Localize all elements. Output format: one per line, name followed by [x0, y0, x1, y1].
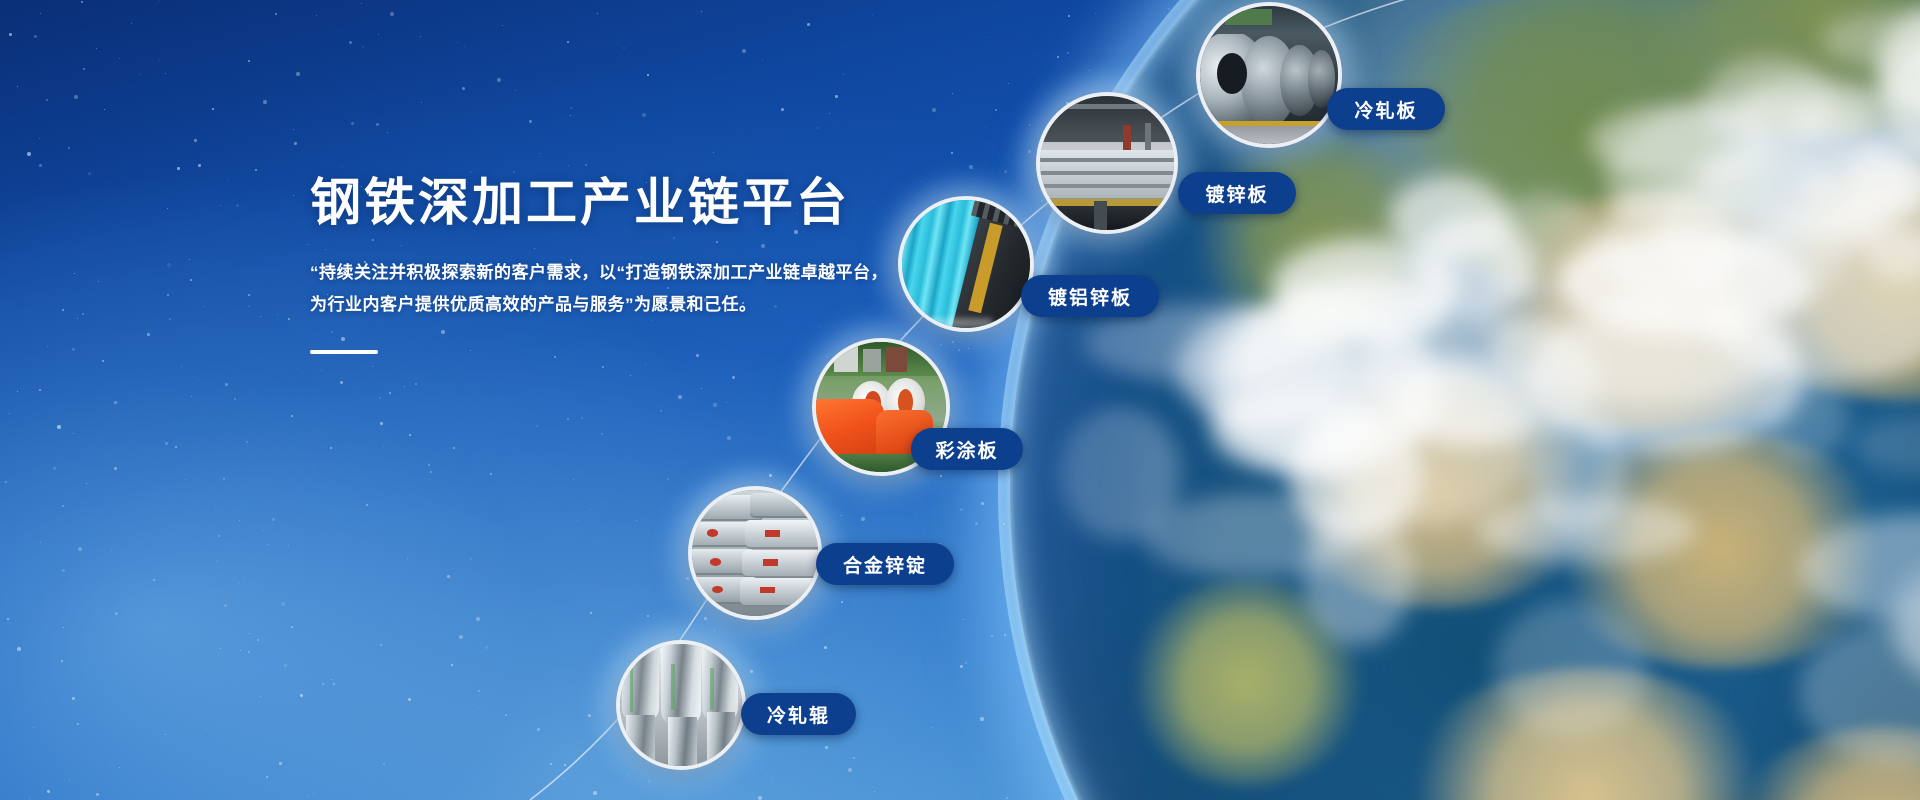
- cold-rolled-steel-coils-photo[interactable]: [1196, 2, 1342, 148]
- node-label-alloy-zinc-ingot[interactable]: 合金锌锭: [816, 543, 954, 585]
- cold-rolling-rolls-photo[interactable]: [616, 640, 746, 770]
- hero-subtitle: “持续关注并积极探索新的客户需求，以“打造钢铁深加工产业链卓越平台， 为行业内客…: [310, 257, 890, 320]
- pill-text: 镀铝锌板: [1048, 283, 1132, 310]
- node-label-galvanized-plate[interactable]: 镀锌板: [1178, 172, 1296, 214]
- node-label-aluzinc-plate[interactable]: 镀铝锌板: [1021, 275, 1159, 317]
- node-label-color-coated-plate[interactable]: 彩涂板: [911, 428, 1023, 470]
- hero-subtitle-line-2: 为行业内客户提供优质高效的产品与服务”为愿景和己任。: [310, 289, 890, 320]
- pill-text: 合金锌锭: [843, 551, 927, 578]
- pill-text: 冷轧辊: [767, 701, 830, 728]
- pill-text: 冷轧板: [1354, 96, 1417, 123]
- pill-text: 彩涂板: [935, 436, 998, 463]
- page-title: 钢铁深加工产业链平台: [310, 175, 890, 231]
- chain-connector-line: [0, 0, 1920, 800]
- starfield-decoration: [0, 0, 1920, 800]
- alloy-zinc-ingots-photo[interactable]: [688, 486, 822, 620]
- hero-copy-block: 钢铁深加工产业链平台 “持续关注并积极探索新的客户需求，以“打造钢铁深加工产业链…: [310, 175, 890, 354]
- node-label-cold-rolling-roll[interactable]: 冷轧辊: [741, 693, 856, 735]
- galvanized-coil-warehouse-photo[interactable]: [1036, 92, 1178, 234]
- pill-text: 镀锌板: [1205, 180, 1268, 207]
- hero-banner: 钢铁深加工产业链平台 “持续关注并积极探索新的客户需求，以“打造钢铁深加工产业链…: [0, 0, 1920, 800]
- hero-subtitle-line-1: “持续关注并积极探索新的客户需求，以“打造钢铁深加工产业链卓越平台，: [310, 257, 890, 288]
- aluzinc-coated-coils-photo[interactable]: [898, 196, 1034, 332]
- node-label-cold-rolled-plate[interactable]: 冷轧板: [1327, 88, 1445, 130]
- divider-rule: [310, 350, 378, 354]
